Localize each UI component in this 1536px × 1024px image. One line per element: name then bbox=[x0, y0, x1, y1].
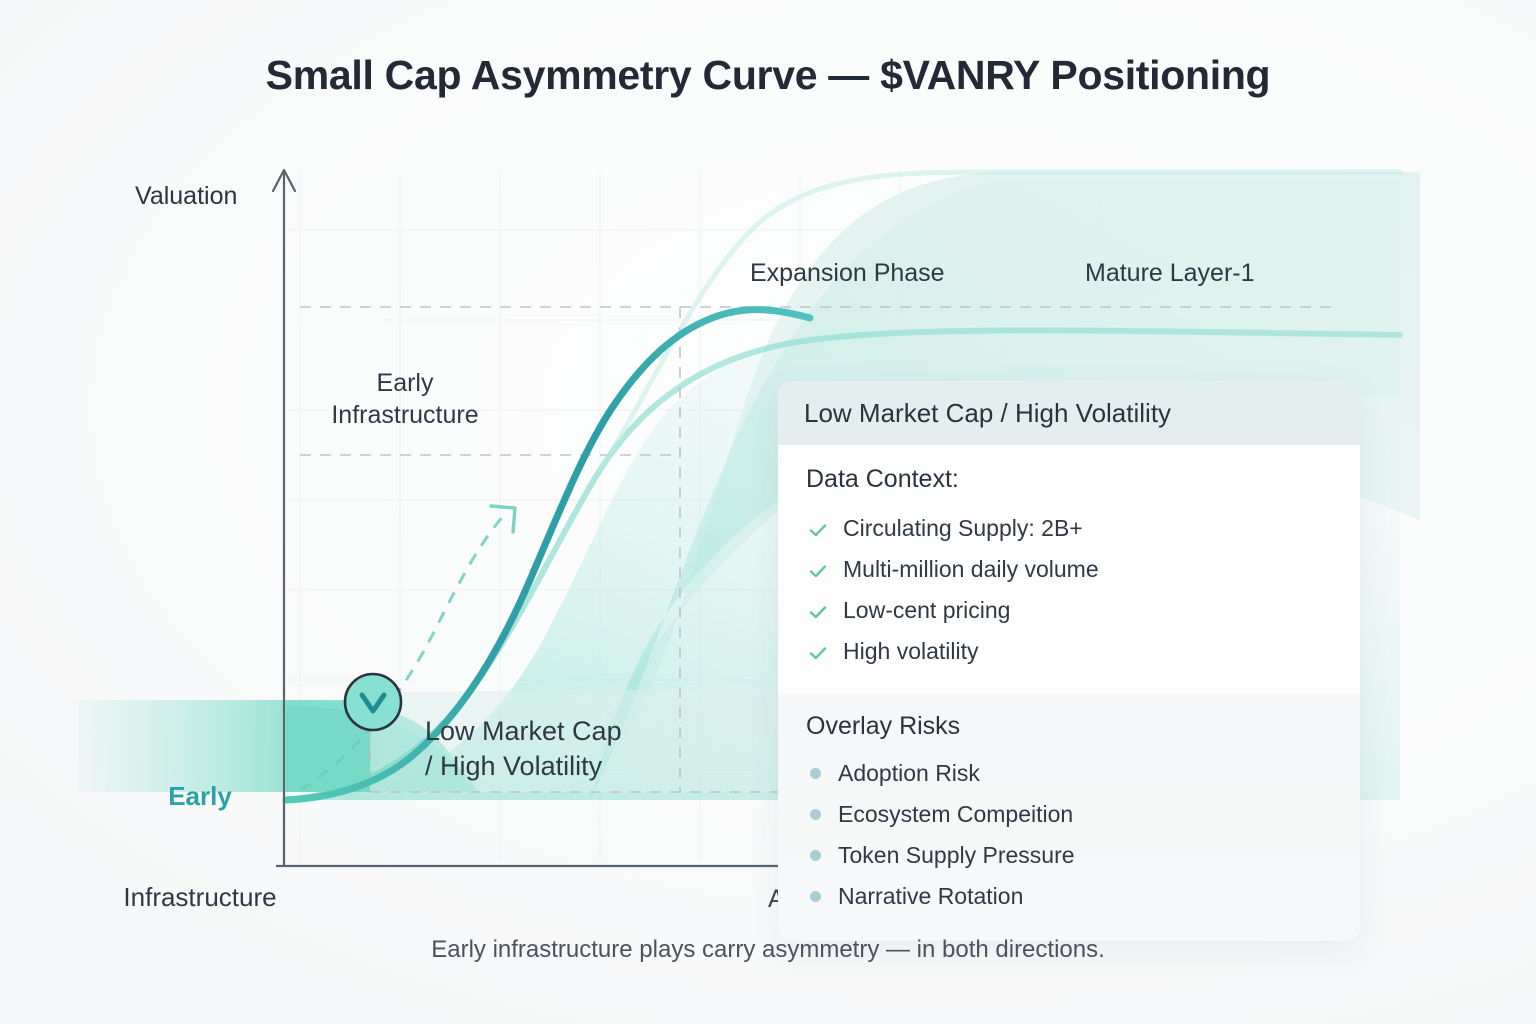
data-context-list: Circulating Supply: 2B+ Multi-million da… bbox=[804, 508, 1334, 672]
badge-line-1: Early bbox=[70, 780, 330, 814]
list-item-label: Narrative Rotation bbox=[838, 883, 1023, 910]
overlay-risks-label: Overlay Risks bbox=[806, 712, 1334, 741]
list-item: Ecosystem Compeition bbox=[804, 794, 1334, 835]
list-item: Narrative Rotation bbox=[804, 876, 1334, 917]
check-icon bbox=[808, 519, 828, 539]
list-item-label: Ecosystem Compeition bbox=[838, 801, 1073, 828]
footer-caption: Early infrastructure plays carry asymmet… bbox=[0, 936, 1536, 964]
list-item: Token Supply Pressure bbox=[804, 835, 1334, 876]
list-item: Multi-million daily volume bbox=[804, 549, 1334, 590]
list-item: Low-cent pricing bbox=[804, 590, 1334, 631]
y-axis-label: Valuation bbox=[135, 181, 237, 213]
overlay-risks-list: Adoption Risk Ecosystem Compeition Token… bbox=[804, 753, 1334, 917]
vanar-chevron-icon bbox=[342, 671, 404, 733]
info-card: Low Market Cap / High Volatility Data Co… bbox=[778, 381, 1360, 941]
check-icon bbox=[808, 560, 828, 580]
list-item: Circulating Supply: 2B+ bbox=[804, 508, 1334, 549]
check-icon bbox=[808, 642, 828, 662]
bullet-dot-icon bbox=[810, 891, 821, 902]
bullet-dot-icon bbox=[810, 809, 821, 820]
list-item-label: Circulating Supply: 2B+ bbox=[843, 515, 1083, 542]
info-card-body: Data Context: Circulating Supply: 2B+ bbox=[778, 445, 1360, 694]
list-item-label: Token Supply Pressure bbox=[838, 842, 1075, 869]
canvas-background: Small Cap Asymmetry Curve — $VANRY Posit… bbox=[0, 0, 1536, 1024]
list-item-label: Low-cent pricing bbox=[843, 597, 1010, 624]
badge-line-2: Infrastructure bbox=[70, 881, 330, 915]
bullet-dot-icon bbox=[810, 850, 821, 861]
zone-label-early-infrastructure: Early Infrastructure bbox=[310, 368, 500, 431]
check-icon bbox=[808, 601, 828, 621]
phase-label-mature: Mature Layer-1 bbox=[1085, 258, 1255, 290]
phase-label-expansion: Expansion Phase bbox=[750, 258, 945, 290]
zone-label-low-market-cap: Low Market Cap / High Volatility bbox=[425, 714, 622, 783]
list-item-label: Adoption Risk bbox=[838, 760, 980, 787]
data-context-label: Data Context: bbox=[806, 465, 1334, 494]
info-card-header: Low Market Cap / High Volatility bbox=[778, 381, 1360, 445]
vanry-position-marker[interactable] bbox=[342, 671, 404, 733]
list-item: High volatility bbox=[804, 631, 1334, 672]
list-item-label: Multi-million daily volume bbox=[843, 556, 1099, 583]
info-card-footer: Overlay Risks Adoption Risk Ecosystem Co… bbox=[778, 694, 1360, 941]
bullet-dot-icon bbox=[810, 768, 821, 779]
list-item: Adoption Risk bbox=[804, 753, 1334, 794]
list-item-label: High volatility bbox=[843, 638, 979, 665]
